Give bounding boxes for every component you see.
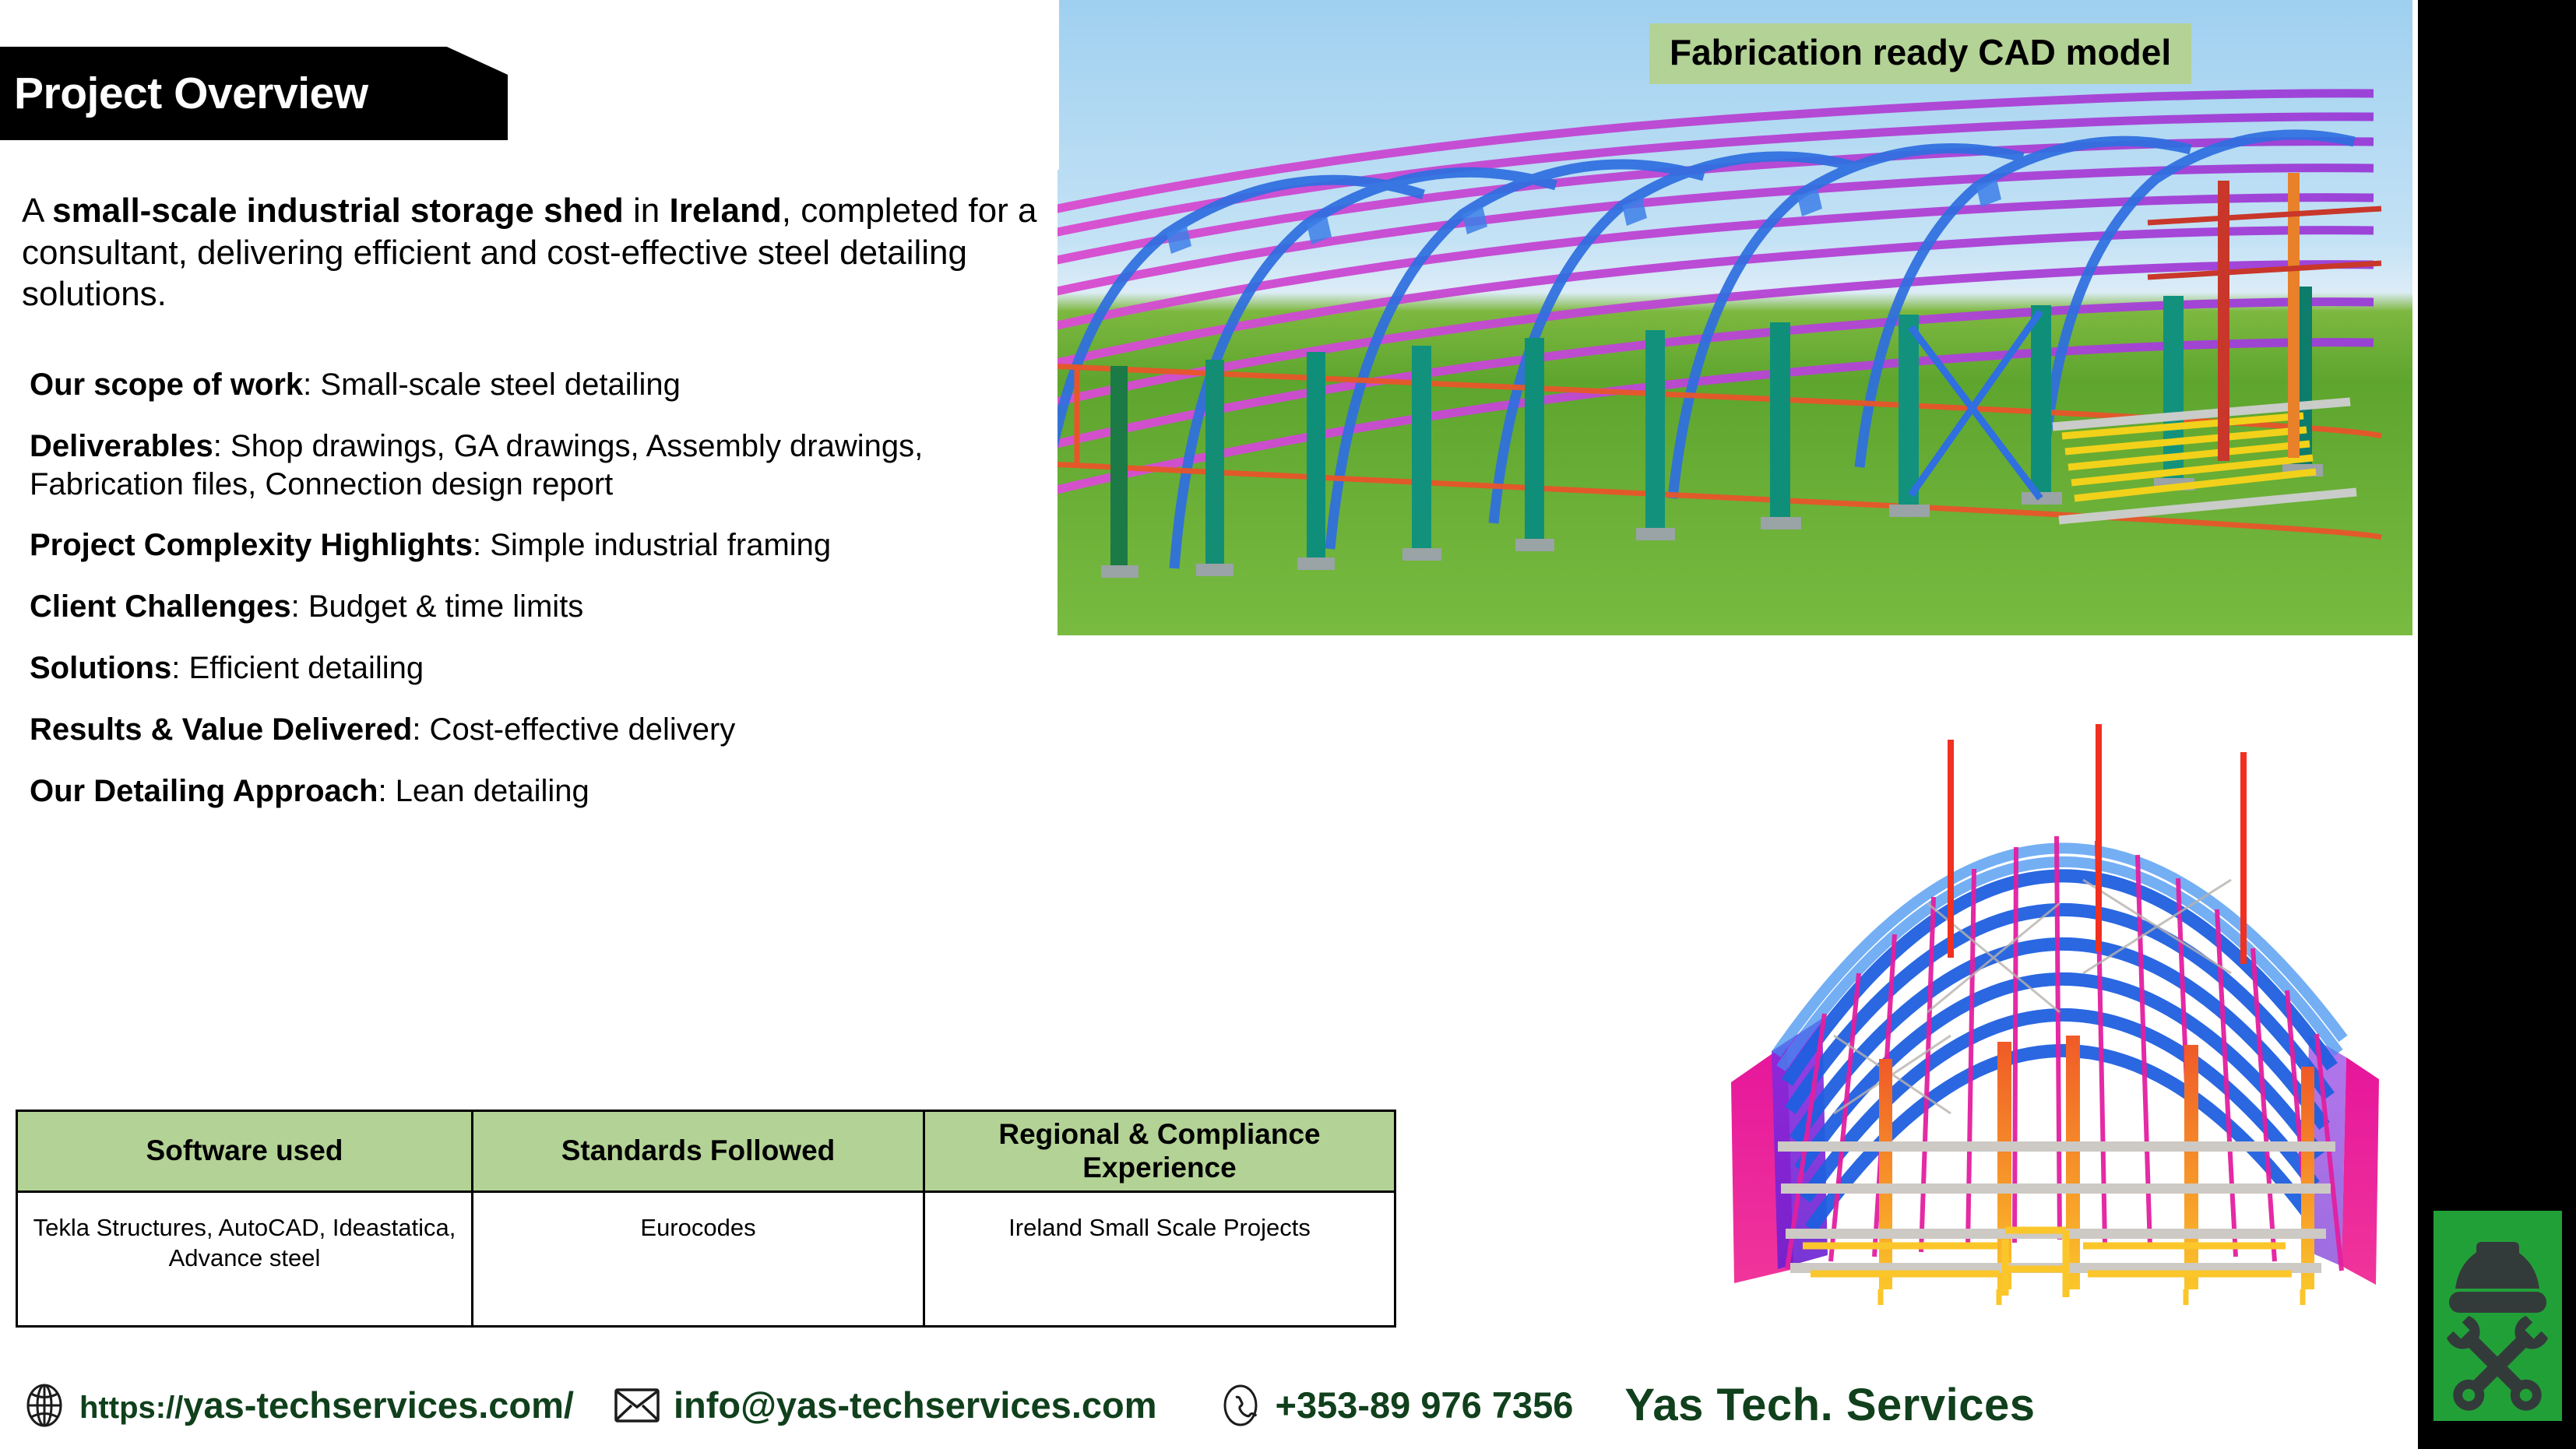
intro-bold-subject: small-scale industrial storage shed [52,192,624,230]
project-detail-list: Our scope of work: Small-scale steel det… [30,366,1042,833]
cell-regional: Ireland Small Scale Projects [924,1192,1395,1327]
elevation-frame-illustration [1694,646,2418,1316]
project-overview-banner: Project Overview [0,47,508,140]
list-item: Our Detailing Approach: Lean detailing [30,772,1042,811]
detail-key: Our Detailing Approach [30,774,378,808]
column-header-regional: Regional & Compliance Experience [924,1111,1395,1192]
detail-key: Solutions [30,651,171,685]
footer-website[interactable]: https://yas-techservices.com/ [23,1383,574,1428]
footer-email[interactable]: info@yas-techservices.com [614,1384,1157,1426]
intro-bold-region: Ireland [669,192,781,230]
cad-model-render-main [1057,0,2412,635]
company-logo [2433,1211,2562,1421]
brand-name: Yas Tech. Services [1624,1379,2035,1431]
cad-model-render-elevation [1694,646,2418,1316]
intro-prefix: A [22,192,52,230]
steel-frame-illustration [1057,0,2412,635]
website-protocol: https:// [79,1391,183,1425]
detail-value: : Small-scale steel detailing [303,368,681,402]
intro-mid: in [624,192,670,230]
footer-brand: Yas Tech. Services [1624,1379,2035,1431]
detail-value: : Budget & time limits [291,589,584,624]
detail-value: : Cost-effective delivery [412,712,735,747]
detail-key: Client Challenges [30,589,291,624]
globe-icon [23,1383,65,1428]
envelope-icon [614,1387,660,1423]
table-header-row: Software used Standards Followed Regiona… [17,1111,1395,1192]
detail-value: : Lean detailing [378,774,589,808]
list-item: Results & Value Delivered: Cost-effectiv… [30,711,1042,749]
list-item: Our scope of work: Small-scale steel det… [30,366,1042,404]
column-header-software: Software used [17,1111,473,1192]
website-text: https://yas-techservices.com/ [79,1384,574,1426]
cell-software: Tekla Structures, AutoCAD, Ideastatica, … [17,1192,473,1327]
specification-table: Software used Standards Followed Regiona… [16,1110,1396,1328]
list-item: Client Challenges: Budget & time limits [30,588,1042,626]
phone-text: +353-89 976 7356 [1276,1384,1574,1426]
email-text: info@yas-techservices.com [674,1384,1157,1426]
list-item: Project Complexity Highlights: Simple in… [30,526,1042,564]
page-title: Project Overview [0,68,368,119]
table-row: Tekla Structures, AutoCAD, Ideastatica, … [17,1192,1395,1327]
cell-standards: Eurocodes [473,1192,924,1327]
website-domain: yas-techservices.com/ [183,1384,574,1426]
intro-paragraph: A small-scale industrial storage shed in… [22,190,1050,315]
detail-key: Results & Value Delivered [30,712,412,747]
detail-value: : Efficient detailing [171,651,424,685]
list-item: Solutions: Efficient detailing [30,649,1042,688]
detail-key: Our scope of work [30,368,303,402]
detail-key: Deliverables [30,429,213,463]
detail-value: : Simple industrial framing [473,528,831,562]
column-header-standards: Standards Followed [473,1111,924,1192]
hardhat-wrenches-icon [2433,1211,2562,1421]
phone-icon [1219,1383,1262,1428]
list-item: Deliverables: Shop drawings, GA drawings… [30,427,1042,504]
detail-key: Project Complexity Highlights [30,528,473,562]
footer-phone[interactable]: +353-89 976 7356 [1219,1383,1574,1428]
fabrication-ready-badge: Fabrication ready CAD model [1649,23,2191,84]
contact-footer: https://yas-techservices.com/ info@yas-t… [0,1361,2418,1449]
